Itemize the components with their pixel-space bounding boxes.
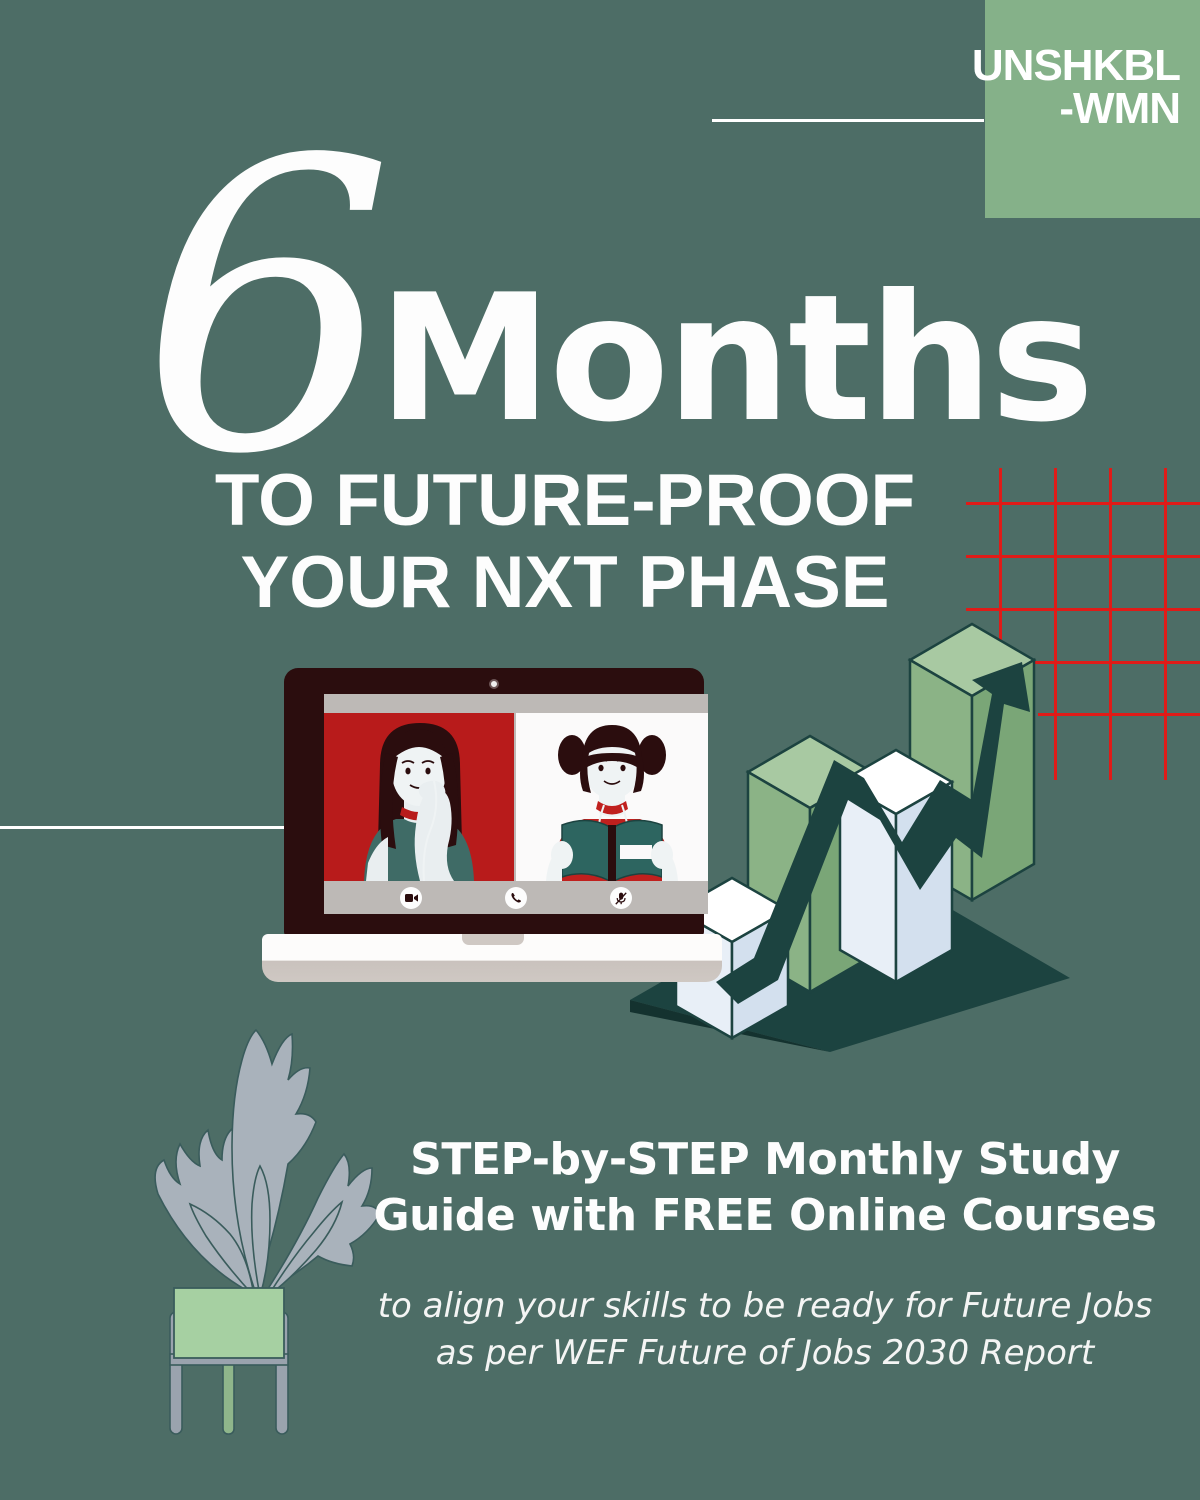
participant-tile-right (516, 713, 708, 881)
laptop-lid (284, 668, 704, 936)
bottom-copy-block: STEP-by-STEP Monthly Study Guide with FR… (370, 1132, 1160, 1376)
bottom-main-line-2: Guide with FREE Online Courses (370, 1188, 1160, 1244)
brand-name-line-1: UNSHKBL (972, 44, 1180, 87)
laptop-screen (324, 694, 708, 914)
bottom-main-text: STEP-by-STEP Monthly Study Guide with FR… (370, 1132, 1160, 1245)
laptop-trackpad-notch (462, 934, 524, 945)
participant-tile-left (324, 713, 514, 881)
webcam-icon (489, 679, 499, 689)
headline-word: Months (378, 272, 1091, 447)
bottom-sub-line-1: to align your skills to be ready for Fut… (370, 1283, 1160, 1330)
left-divider-rule (0, 826, 296, 829)
bottom-main-line-1: STEP-by-STEP Monthly Study (370, 1132, 1160, 1188)
laptop-illustration (262, 668, 722, 998)
potted-plant-illustration (128, 1008, 398, 1448)
call-control-bar (324, 881, 708, 914)
subheadline-line-1: TO FUTURE-PROOF (0, 460, 1130, 542)
poster-canvas: UNSHKBL -WMN 6 Months TO FUTURE-PROOF YO… (0, 0, 1200, 1500)
phone-icon[interactable] (505, 887, 527, 909)
bottom-sub-text: to align your skills to be ready for Fut… (370, 1283, 1160, 1377)
headline-group: 6 Months (0, 120, 1090, 430)
headline-number: 6 (140, 110, 395, 510)
bottom-sub-line-2: as per WEF Future of Jobs 2030 Report (370, 1330, 1160, 1377)
microphone-muted-icon[interactable] (610, 887, 632, 909)
subheadline: TO FUTURE-PROOF YOUR NXT PHASE (0, 460, 1130, 624)
video-camera-icon[interactable] (400, 887, 422, 909)
